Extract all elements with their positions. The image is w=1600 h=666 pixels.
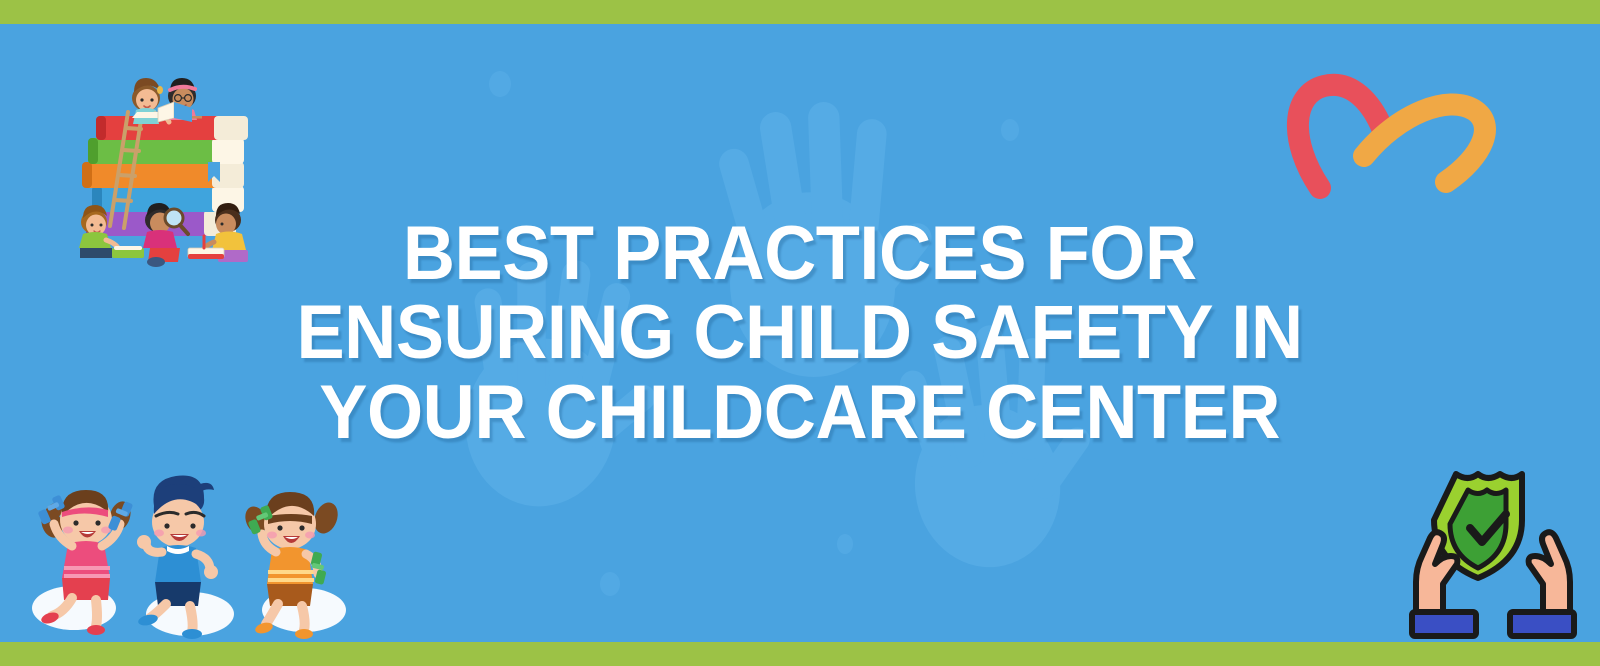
hands-holding-green-shield-with-checkmark-icon — [1398, 462, 1588, 642]
green-band-top — [0, 0, 1600, 24]
children-reading-on-book-stack-illustration — [52, 40, 284, 270]
child-safety-banner: BEST PRACTICES FOR ENSURING CHILD SAFETY… — [0, 0, 1600, 666]
children-exercising-with-dumbbells-illustration — [22, 468, 370, 644]
green-band-bottom — [0, 642, 1600, 666]
heart-brush-stroke-logo — [1278, 70, 1528, 210]
